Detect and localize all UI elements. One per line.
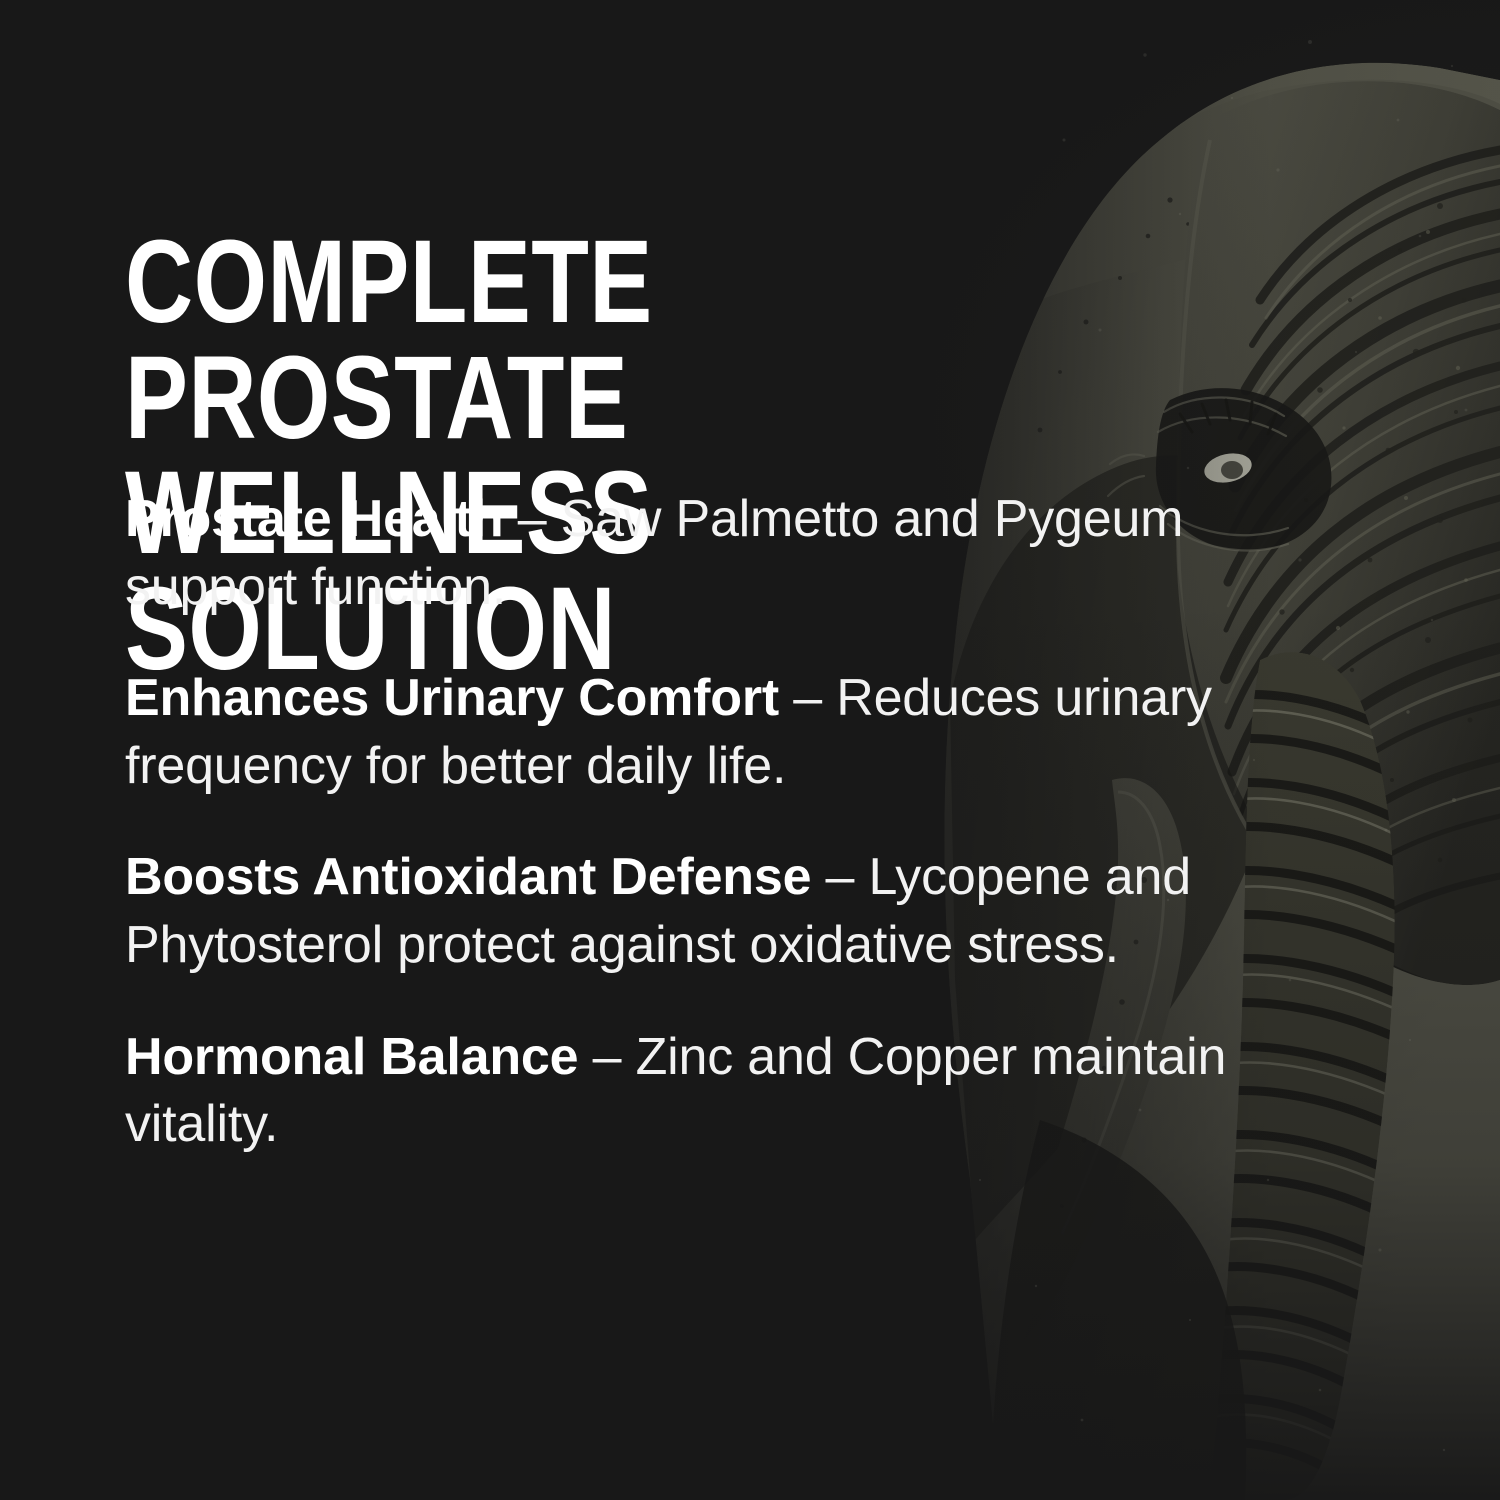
benefit-item-antioxidant-defense: Boosts Antioxidant Defense – Lycopene an… bbox=[125, 844, 1300, 979]
benefits-list: Prostate Health – Saw Palmetto and Pygeu… bbox=[125, 486, 1300, 1159]
benefit-item-hormonal-balance: Hormonal Balance – Zinc and Copper maint… bbox=[125, 1024, 1300, 1159]
benefit-dash: – bbox=[578, 1028, 635, 1086]
benefit-lead-label: Prostate Health bbox=[125, 490, 503, 548]
benefit-dash: – bbox=[811, 848, 868, 906]
benefit-lead-label: Enhances Urinary Comfort bbox=[125, 669, 779, 727]
benefit-dash: – bbox=[779, 669, 836, 727]
benefit-item-urinary-comfort: Enhances Urinary Comfort – Reduces urina… bbox=[125, 665, 1300, 800]
benefit-lead-label: Boosts Antioxidant Defense bbox=[125, 848, 811, 906]
product-benefits-poster: COMPLETE PROSTATE WELLNESS SOLUTION Pros… bbox=[0, 0, 1500, 1500]
benefit-lead-label: Hormonal Balance bbox=[125, 1028, 578, 1086]
benefit-item-prostate-health: Prostate Health – Saw Palmetto and Pygeu… bbox=[125, 486, 1300, 621]
benefit-dash: – bbox=[503, 490, 560, 548]
